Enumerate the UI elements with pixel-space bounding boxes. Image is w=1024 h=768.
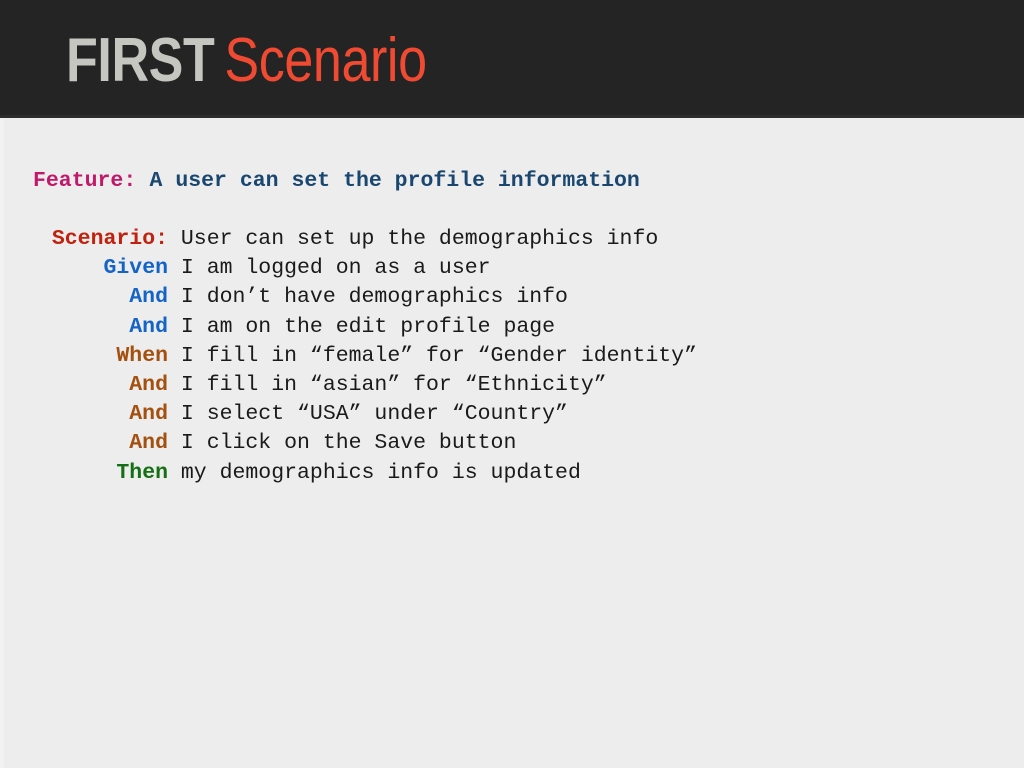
- step-keyword-and: And: [0, 371, 168, 400]
- slide-title-first-word: FIRST: [66, 26, 214, 95]
- step-keyword-and: And: [0, 283, 168, 312]
- step-row: And I don’t have demographics info: [0, 283, 697, 312]
- step-keyword-and: And: [0, 313, 168, 342]
- step-keyword-and: And: [0, 400, 168, 429]
- slide-title-bar: FIRSTScenario: [0, 0, 1024, 118]
- step-row: When I fill in “female” for “Gender iden…: [0, 342, 697, 371]
- step-text: I fill in “asian” for “Ethnicity”: [181, 371, 607, 400]
- step-text: I don’t have demographics info: [181, 283, 568, 312]
- slide-left-edge-strip: [0, 118, 4, 768]
- step-row: And I fill in “asian” for “Ethnicity”: [0, 371, 697, 400]
- step-keyword-then: Then: [0, 459, 168, 488]
- step-text: I select “USA” under “Country”: [181, 400, 568, 429]
- step-text: my demographics info is updated: [181, 459, 581, 488]
- step-text: I am on the edit profile page: [181, 313, 555, 342]
- step-row: And I select “USA” under “Country”: [0, 400, 697, 429]
- slide-title-rest: Scenario: [224, 26, 426, 95]
- slide-title: FIRSTScenario: [66, 26, 427, 96]
- step-text: User can set up the demographics info: [181, 225, 658, 254]
- step-keyword-scenario: Scenario:: [0, 225, 168, 254]
- step-text: I fill in “female” for “Gender identity”: [181, 342, 697, 371]
- step-keyword-when: When: [0, 342, 168, 371]
- step-keyword-and: And: [0, 429, 168, 458]
- gherkin-feature-block: Feature:A user can set the profile infor…: [0, 118, 1024, 768]
- feature-keyword: Feature:: [33, 169, 136, 193]
- step-row: And I am on the edit profile page: [0, 313, 697, 342]
- step-row: Given I am logged on as a user: [0, 254, 697, 283]
- step-row: Scenario: User can set up the demographi…: [0, 225, 697, 254]
- feature-line: Feature:A user can set the profile infor…: [33, 167, 640, 196]
- gherkin-step-list: Scenario: User can set up the demographi…: [0, 225, 697, 488]
- step-row: Then my demographics info is updated: [0, 459, 697, 488]
- step-row: And I click on the Save button: [0, 429, 697, 458]
- feature-title: A user can set the profile information: [150, 169, 640, 193]
- step-keyword-given: Given: [0, 254, 168, 283]
- step-text: I click on the Save button: [181, 429, 516, 458]
- step-text: I am logged on as a user: [181, 254, 491, 283]
